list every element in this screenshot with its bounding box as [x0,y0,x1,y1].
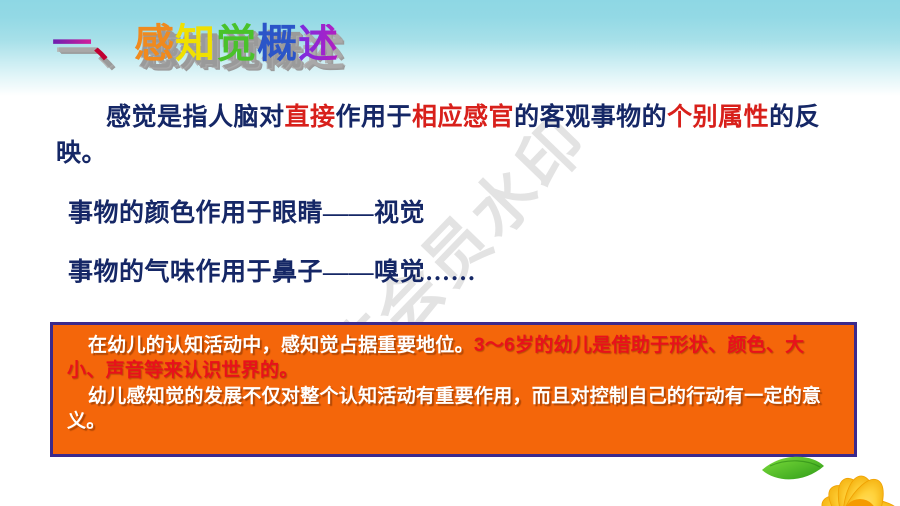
definition-highlight-2: 相应感官 [412,104,514,131]
title-char-3: 感 [134,24,175,64]
example-line-sight: 事物的颜色作用于眼睛——视觉 [68,193,425,229]
callout-paragraph-1: 在幼儿的认知活动中，感知觉占据重要地位。3～6岁的幼儿是借助于形状、颜色、大小、… [67,333,842,384]
title-char-4: 知 [175,24,216,64]
title-char-1: 一 [52,24,93,64]
callout-box: 在幼儿的认知活动中，感知觉占据重要地位。3～6岁的幼儿是借助于形状、颜色、大小、… [50,322,857,457]
definition-paragraph-block: 感觉是指人脑对直接作用于相应感官的客观事物的个别属性的反映。 [56,100,856,171]
definition-paragraph: 感觉是指人脑对直接作用于相应感官的客观事物的个别属性的反映。 [56,100,856,171]
title-char-5: 觉 [216,24,257,64]
definition-highlight-3: 个别属性 [667,104,769,131]
definition-segment-2: 作用于 [336,104,413,131]
example-line-smell: 事物的气味作用于鼻子——嗅觉…… [68,252,476,288]
title-char-6: 概 [257,24,298,64]
definition-segment-3: 的客观事物的 [514,104,667,131]
slide-canvas: 非会员水印 一、感知觉概述 感觉是指人脑对直接作用于相应感官的客观事物的个别属性… [0,0,900,506]
title-char-2: 、 [93,24,134,64]
definition-highlight-1: 直接 [285,104,336,131]
definition-segment-1: 感觉是指人脑对 [106,104,285,131]
page-title: 一、感知觉概述 [52,24,339,64]
callout-paragraph-2: 幼儿感知觉的发展不仅对整个认知活动有重要作用，而且对控制自己的行动有一定的意义。 [67,384,842,435]
callout-line1-white: 在幼儿的认知活动中，感知觉占据重要地位。 [88,335,474,356]
title-char-7: 述 [298,24,339,64]
